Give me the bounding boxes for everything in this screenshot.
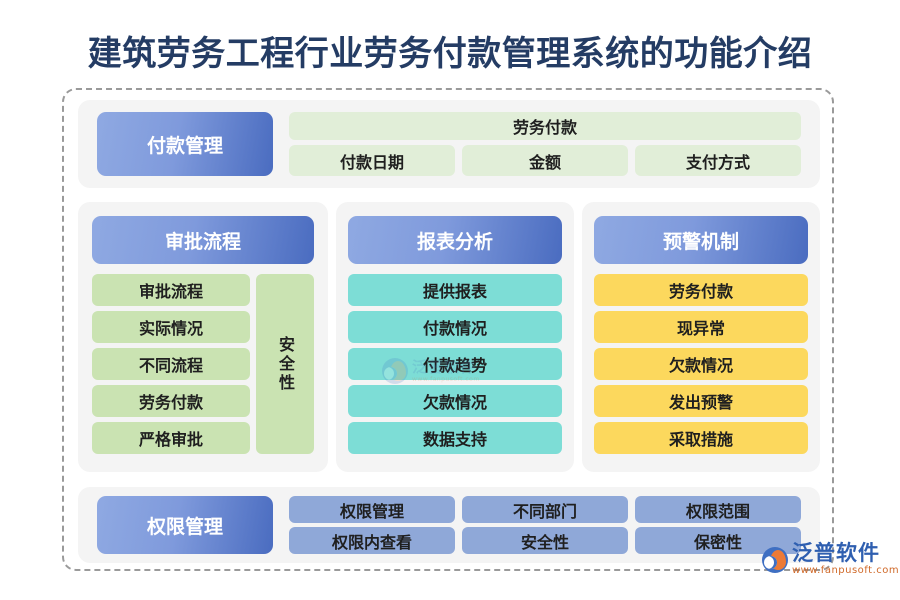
permission-item[interactable]: 权限内查看 <box>289 527 455 554</box>
list-item[interactable]: 欠款情况 <box>348 385 562 417</box>
report-analysis-item-list: 提供报表 付款情况 付款趋势 欠款情况 数据支持 <box>348 274 562 459</box>
payment-sub-item-amount[interactable]: 金额 <box>462 145 628 176</box>
payment-management-section: 付款管理 劳务付款 付款日期 金额 支付方式 <box>78 100 820 188</box>
permission-management-section: 权限管理 权限管理 不同部门 权限范围 权限内查看 安全性 保密性 <box>78 487 820 563</box>
list-item[interactable]: 实际情况 <box>92 311 250 343</box>
payment-top-item[interactable]: 劳务付款 <box>289 112 801 140</box>
permission-item[interactable]: 保密性 <box>635 527 801 554</box>
payment-sub-item-method[interactable]: 支付方式 <box>635 145 801 176</box>
approval-flow-item-list: 审批流程 实际情况 不同流程 劳务付款 严格审批 <box>92 274 250 459</box>
warning-mechanism-column: 预警机制 劳务付款 现异常 欠款情况 发出预警 采取措施 <box>582 202 820 472</box>
payment-management-header[interactable]: 付款管理 <box>97 112 273 176</box>
list-item[interactable]: 不同流程 <box>92 348 250 380</box>
list-item[interactable]: 现异常 <box>594 311 808 343</box>
list-item[interactable]: 欠款情况 <box>594 348 808 380</box>
list-item[interactable]: 严格审批 <box>92 422 250 454</box>
list-item[interactable]: 付款趋势 <box>348 348 562 380</box>
approval-flow-column: 审批流程 审批流程 实际情况 不同流程 劳务付款 严格审批 安全性 <box>78 202 328 472</box>
list-item[interactable]: 劳务付款 <box>92 385 250 417</box>
permission-item[interactable]: 安全性 <box>462 527 628 554</box>
list-item[interactable]: 数据支持 <box>348 422 562 454</box>
warning-mechanism-item-list: 劳务付款 现异常 欠款情况 发出预警 采取措施 <box>594 274 808 459</box>
list-item[interactable]: 审批流程 <box>92 274 250 306</box>
approval-flow-header[interactable]: 审批流程 <box>92 216 314 264</box>
list-item[interactable]: 付款情况 <box>348 311 562 343</box>
report-analysis-column: 报表分析 提供报表 付款情况 付款趋势 欠款情况 数据支持 <box>336 202 574 472</box>
report-analysis-header[interactable]: 报表分析 <box>348 216 562 264</box>
permission-item[interactable]: 权限范围 <box>635 496 801 523</box>
page-title: 建筑劳务工程行业劳务付款管理系统的功能介绍 <box>0 32 900 76</box>
list-item[interactable]: 采取措施 <box>594 422 808 454</box>
warning-mechanism-header[interactable]: 预警机制 <box>594 216 808 264</box>
permission-management-header[interactable]: 权限管理 <box>97 496 273 554</box>
security-vertical-label[interactable]: 安全性 <box>256 274 314 454</box>
list-item[interactable]: 提供报表 <box>348 274 562 306</box>
permission-item[interactable]: 不同部门 <box>462 496 628 523</box>
list-item[interactable]: 劳务付款 <box>594 274 808 306</box>
permission-item[interactable]: 权限管理 <box>289 496 455 523</box>
list-item[interactable]: 发出预警 <box>594 385 808 417</box>
payment-sub-item-date[interactable]: 付款日期 <box>289 145 455 176</box>
